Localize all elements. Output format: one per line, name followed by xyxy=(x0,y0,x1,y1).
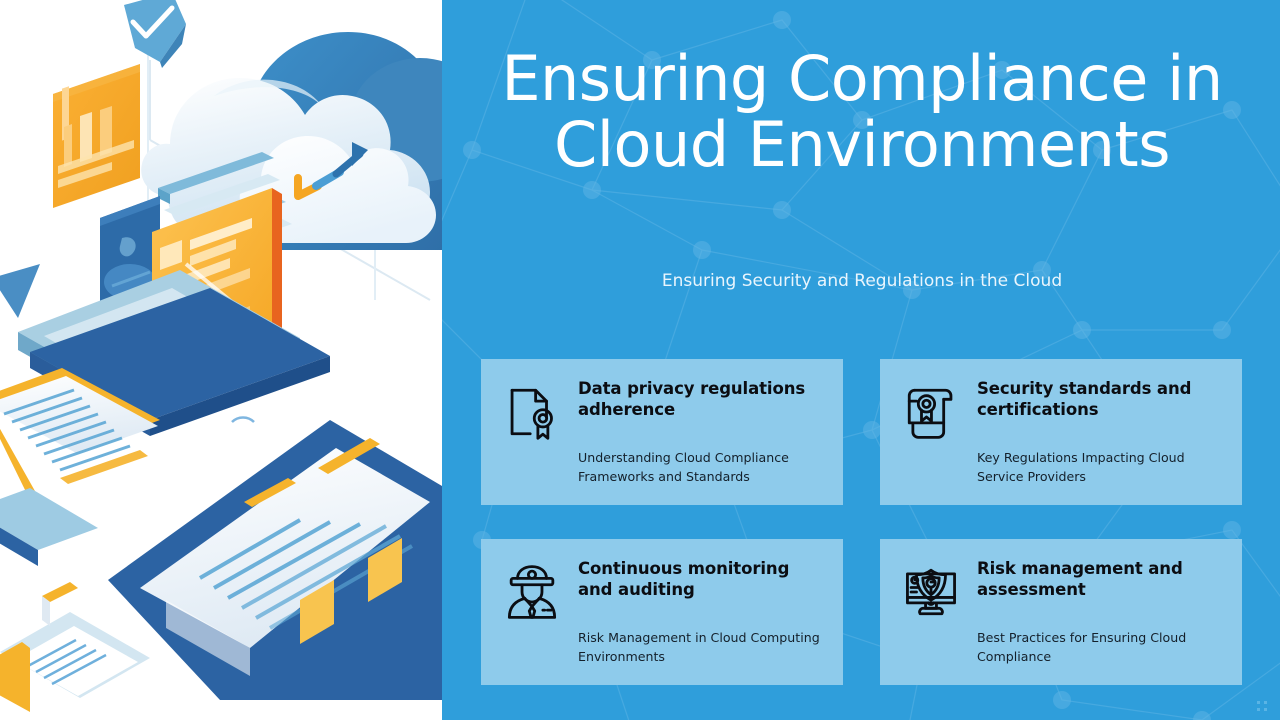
monitor-shield-icon xyxy=(899,560,963,624)
card-body: Data privacy regulations adherence Under… xyxy=(564,377,827,486)
cloud-computing-illustration xyxy=(0,0,442,720)
card-description: Best Practices for Ensuring Cloud Compli… xyxy=(977,628,1226,666)
card-body: Security standards and certifications Ke… xyxy=(963,377,1226,486)
feature-card-risk-management[interactable]: Risk management and assessment Best Prac… xyxy=(880,539,1242,685)
slide-root: Ensuring Compliance in Cloud Environment… xyxy=(0,0,1280,720)
feature-card-grid: Data privacy regulations adherence Under… xyxy=(481,359,1242,685)
card-title: Risk management and assessment xyxy=(977,558,1226,600)
illustration-panel xyxy=(0,0,442,720)
card-body: Continuous monitoring and auditing Risk … xyxy=(564,557,827,666)
card-title: Continuous monitoring and auditing xyxy=(578,558,827,600)
card-description: Key Regulations Impacting Cloud Service … xyxy=(977,448,1226,486)
feature-card-security-standards[interactable]: Security standards and certifications Ke… xyxy=(880,359,1242,505)
card-title: Data privacy regulations adherence xyxy=(578,378,827,420)
card-body: Risk management and assessment Best Prac… xyxy=(963,557,1226,666)
certificate-document-icon xyxy=(500,380,564,444)
corner-marker-icon xyxy=(1256,700,1274,714)
feature-card-continuous-monitoring[interactable]: Continuous monitoring and auditing Risk … xyxy=(481,539,843,685)
page-title: Ensuring Compliance in Cloud Environment… xyxy=(482,46,1242,178)
content-panel: Ensuring Compliance in Cloud Environment… xyxy=(442,0,1280,720)
card-description: Understanding Cloud Compliance Framework… xyxy=(578,448,827,486)
feature-card-data-privacy[interactable]: Data privacy regulations adherence Under… xyxy=(481,359,843,505)
certificate-scroll-icon xyxy=(899,380,963,444)
card-description: Risk Management in Cloud Computing Envir… xyxy=(578,628,827,666)
card-title: Security standards and certifications xyxy=(977,378,1226,420)
page-subtitle: Ensuring Security and Regulations in the… xyxy=(482,270,1242,292)
security-officer-icon xyxy=(500,560,564,624)
